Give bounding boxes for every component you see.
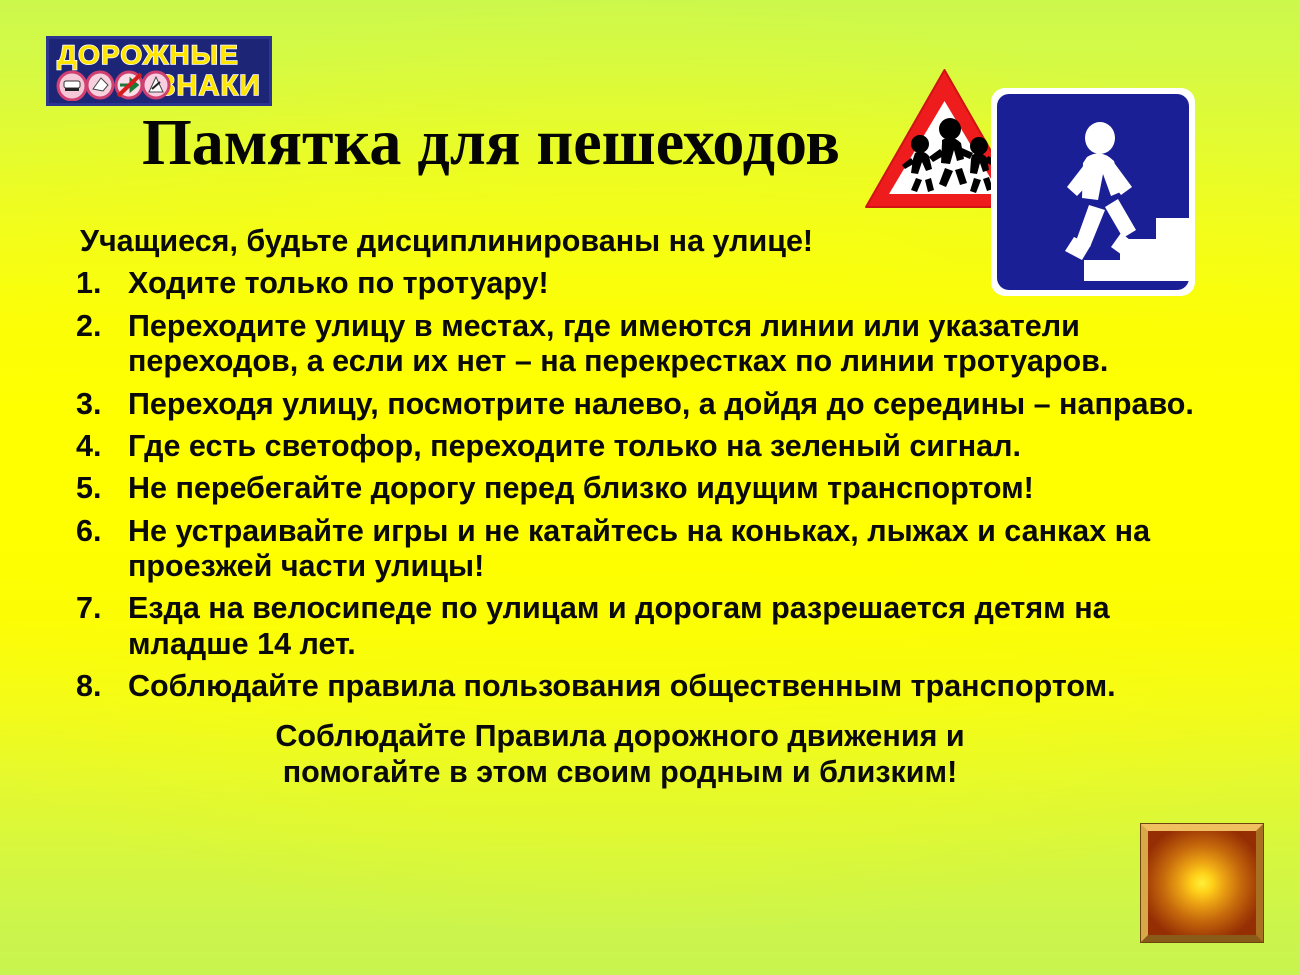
rule-item-8: 8. Соблюдайте правила пользования общест… [76, 669, 1236, 704]
rule-text: Не устраивайте игры и не катайтесь на ко… [128, 514, 1233, 585]
logo-mini-signs-icon [55, 69, 177, 101]
gold-bevel-square [1141, 824, 1263, 942]
rule-text: Ходите только по тротуару! [128, 266, 1233, 301]
rule-text: Переходя улицу, посмотрите налево, а дой… [128, 387, 1233, 422]
closing-line-2: помогайте в этом своим родным и близким! [76, 754, 1164, 791]
rule-item-5: 5. Не перебегайте дорогу перед близко ид… [76, 471, 1236, 506]
rule-text: Езда на велосипеде по улицам и дорогам р… [128, 591, 1233, 662]
rule-number: 8. [76, 669, 128, 704]
closing-statement: Соблюдайте Правила дорожного движения и … [76, 718, 1236, 791]
dorozhnye-znaki-logo: ДОРОЖНЫЕ ЗНАКИ [46, 36, 272, 106]
rule-item-4: 4. Где есть светофор, переходите только … [76, 429, 1236, 464]
rules-content: Учащиеся, будьте дисциплинированы на ули… [76, 224, 1236, 791]
page-title: Памятка для пешеходов [142, 110, 860, 176]
rule-item-1: 1. Ходите только по тротуару! [76, 266, 1236, 301]
rule-text: Не перебегайте дорогу перед близко идущи… [128, 471, 1233, 506]
rule-number: 1. [76, 266, 128, 301]
closing-line-1: Соблюдайте Правила дорожного движения и [76, 718, 1164, 755]
rule-number: 6. [76, 514, 128, 585]
poster-canvas: ДОРОЖНЫЕ ЗНАКИ [0, 0, 1300, 975]
rule-number: 4. [76, 429, 128, 464]
rule-text: Соблюдайте правила пользования обществен… [128, 669, 1233, 704]
rule-item-7: 7. Езда на велосипеде по улицам и дорога… [76, 591, 1236, 662]
rule-number: 7. [76, 591, 128, 662]
rules-list: 1. Ходите только по тротуару! 2. Переход… [76, 266, 1236, 704]
rule-item-6: 6. Не устраивайте игры и не катайтесь на… [76, 514, 1236, 585]
rule-number: 5. [76, 471, 128, 506]
rule-item-2: 2. Переходите улицу в местах, где имеютс… [76, 309, 1236, 380]
rule-text: Переходите улицу в местах, где имеются л… [128, 309, 1233, 380]
rule-number: 3. [76, 387, 128, 422]
logo-word-top: ДОРОЖНЫЕ [57, 40, 239, 71]
rule-number: 2. [76, 309, 128, 380]
rule-text: Где есть светофор, переходите только на … [128, 429, 1233, 464]
intro-line: Учащиеся, будьте дисциплинированы на ули… [76, 224, 1236, 259]
rule-item-3: 3. Переходя улицу, посмотрите налево, а … [76, 387, 1236, 422]
